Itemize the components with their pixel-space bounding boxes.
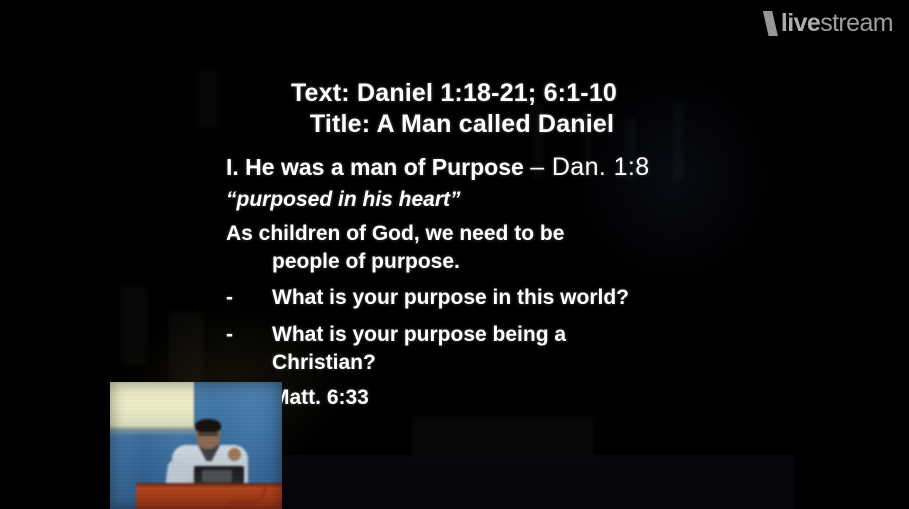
slide-point-heading: I. He was a man of Purpose – Dan. 1:8 xyxy=(226,155,826,180)
slide-statement-line-1: As children of God, we need to be xyxy=(226,220,826,248)
slide-scripture-text-line: Text: Daniel 1:18-21; 6:1-10 xyxy=(113,78,795,109)
bullet-dash-icon: - xyxy=(226,284,272,312)
slide-title-line: Title: A Man called Daniel xyxy=(113,109,795,140)
podium-laptop-screen xyxy=(202,470,232,482)
point-heading-text: I. He was a man of Purpose xyxy=(226,154,530,180)
slide-statement-line-2: people of purpose. xyxy=(226,248,826,276)
bullet-text: What is your purpose in this world? xyxy=(272,284,629,312)
speaker-hair xyxy=(195,419,221,432)
speaker-glasses-icon xyxy=(198,432,218,436)
livestream-player-stage: livestream Text: Daniel 1:18-21; 6:1-10 … xyxy=(0,0,909,509)
projector-screen xyxy=(110,382,194,428)
slide-bullet-item: - What is your purpose being a Christian… xyxy=(226,321,826,376)
projector-screen-shadow xyxy=(110,426,196,436)
bullet-dash-icon: - xyxy=(226,321,272,349)
slide-quote: “purposed in his heart” xyxy=(226,189,826,210)
slide-body-block: I. He was a man of Purpose – Dan. 1:8 “p… xyxy=(226,155,826,411)
slide-scripture-reference: Matt. 6:33 xyxy=(226,384,826,412)
speaker-video-scene xyxy=(110,382,282,509)
slide-headline-block: Text: Daniel 1:18-21; 6:1-10 Title: A Ma… xyxy=(113,78,795,140)
bullet-text: What is your purpose being a Christian? xyxy=(272,321,566,376)
speaker-video-inset[interactable] xyxy=(110,382,282,509)
point-heading-reference: – Dan. 1:8 xyxy=(530,153,649,181)
speaker-hand xyxy=(228,448,241,461)
slide-bullet-item: - What is your purpose in this world? xyxy=(226,284,826,312)
